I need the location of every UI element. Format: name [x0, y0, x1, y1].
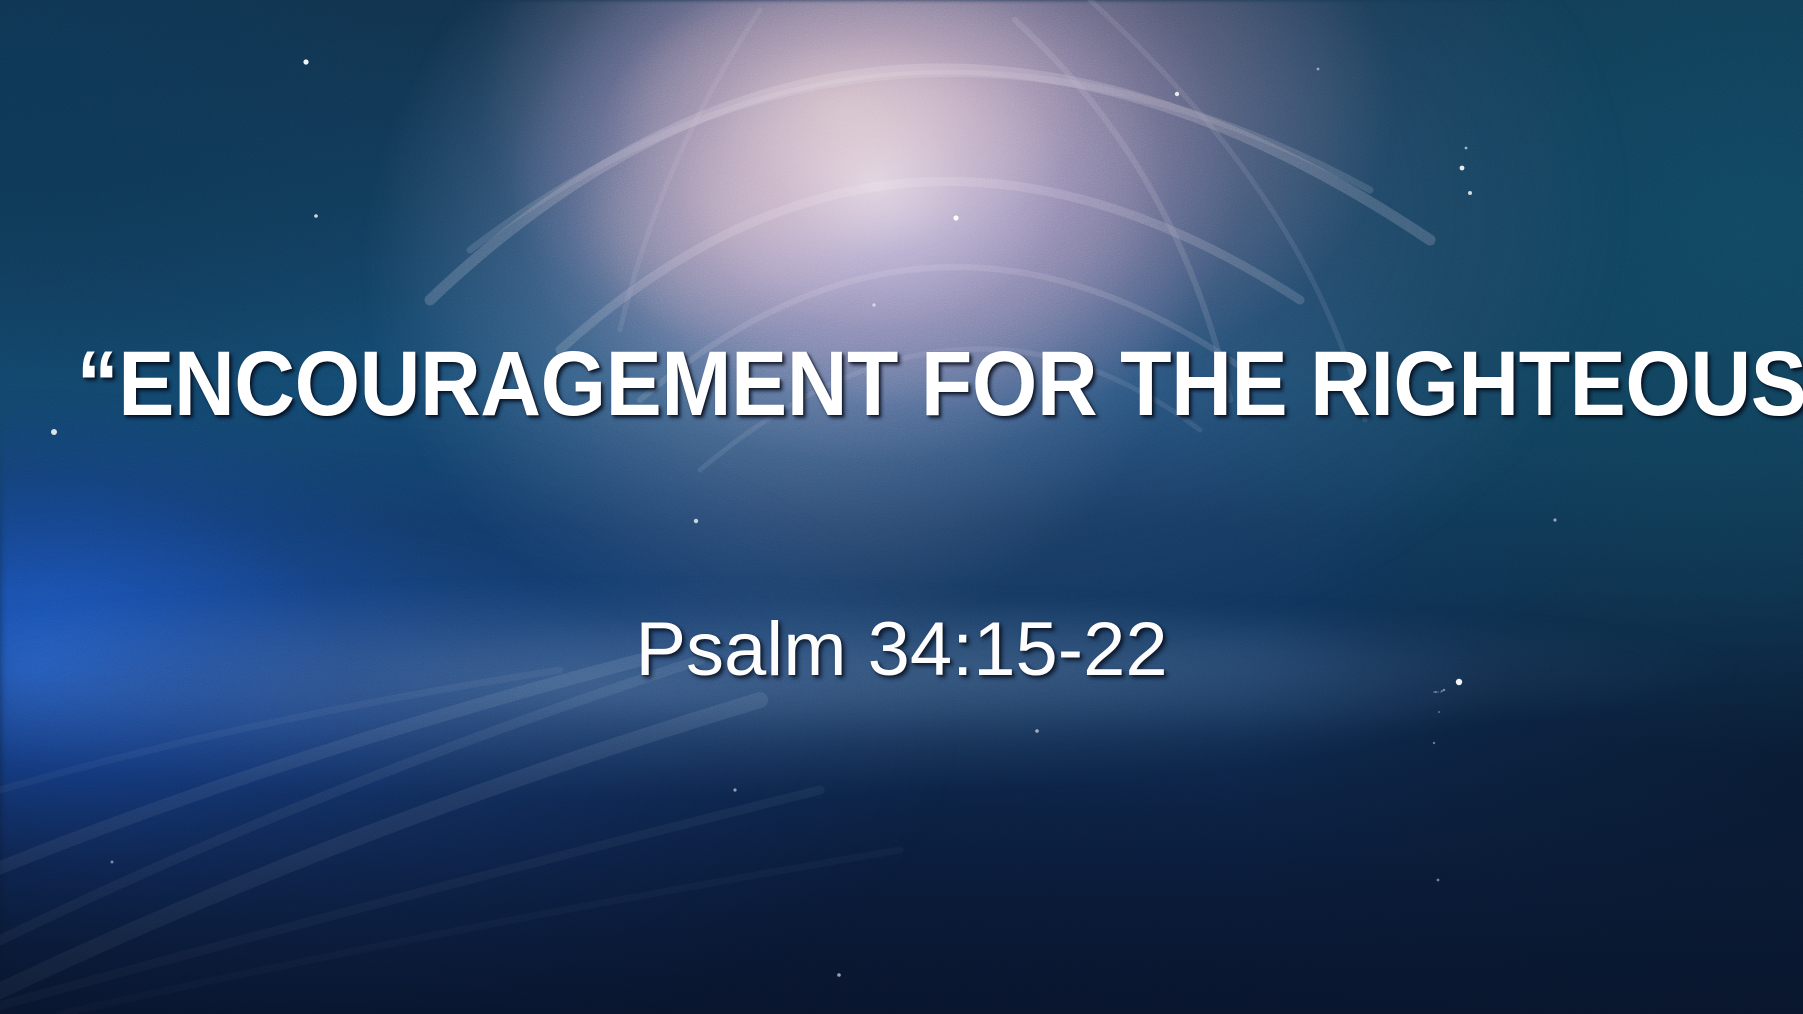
presentation-slide: “ENCOURAGEMENT FOR THE RIGHTEOUS” Psalm …	[0, 0, 1803, 1014]
scripture-reference: Psalm 34:15-22	[0, 612, 1803, 688]
page-title: “ENCOURAGEMENT FOR THE RIGHTEOUS”	[77, 338, 1727, 430]
slide-content: “ENCOURAGEMENT FOR THE RIGHTEOUS” Psalm …	[0, 0, 1803, 1014]
